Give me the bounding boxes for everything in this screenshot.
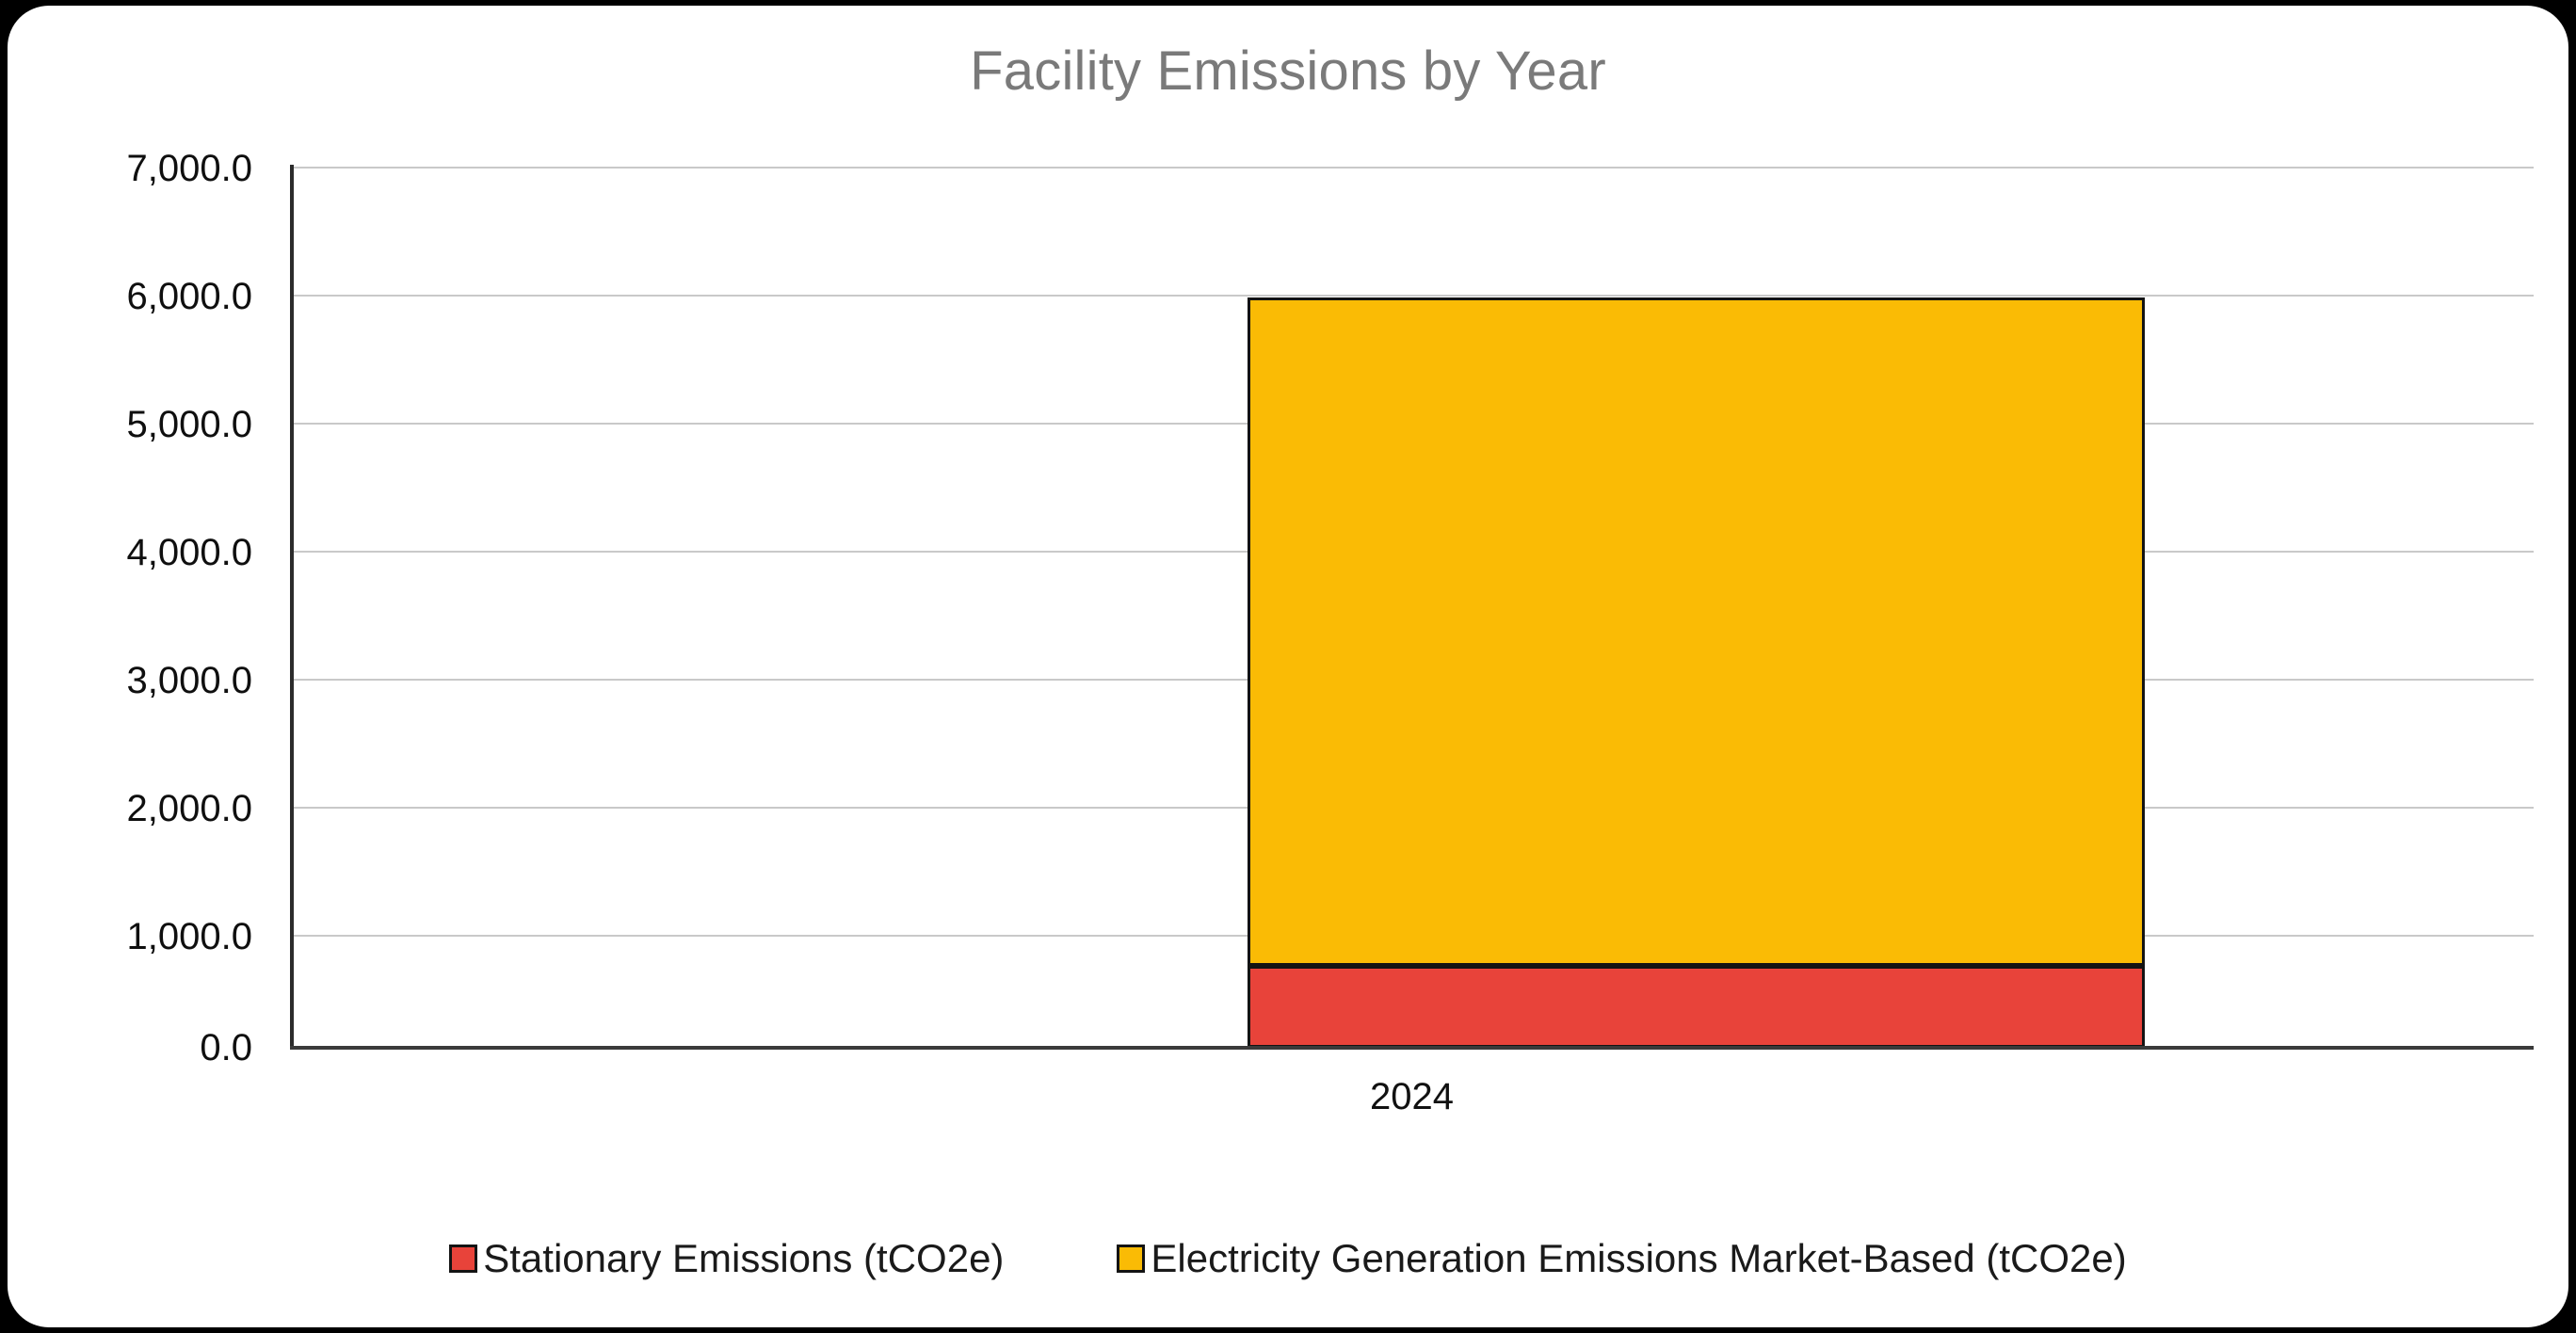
screenshot-root: Facility Emissions by Year 7,000.0 6,000… [0, 0, 2576, 1333]
legend-item-stationary-emissions[interactable]: Stationary Emissions (tCO2e) [449, 1239, 1004, 1278]
y-tick-label-5000: 5,000.0 [8, 404, 252, 446]
chart-card: Facility Emissions by Year 7,000.0 6,000… [8, 6, 2568, 1327]
x-axis-line [290, 1046, 2534, 1050]
bar-segment-electricity-generation-emissions-market-based[interactable] [1248, 297, 2145, 967]
legend-swatch-icon-electricity [1117, 1245, 1145, 1273]
legend-label-electricity: Electricity Generation Emissions Market-… [1151, 1239, 2126, 1278]
y-tick-label-2000: 2,000.0 [8, 788, 252, 830]
legend-label-stationary: Stationary Emissions (tCO2e) [483, 1239, 1004, 1278]
y-axis-line [290, 165, 294, 1050]
bar-column-2024[interactable] [1248, 167, 2145, 1048]
y-tick-label-0: 0.0 [8, 1027, 252, 1069]
y-tick-label-6000: 6,000.0 [8, 276, 252, 318]
y-tick-label-4000: 4,000.0 [8, 532, 252, 574]
plot-area [292, 167, 2534, 1048]
bar-segment-stationary-emissions[interactable] [1248, 966, 2145, 1048]
chart-title: Facility Emissions by Year [8, 40, 2568, 103]
legend-item-electricity-generation-market-based[interactable]: Electricity Generation Emissions Market-… [1117, 1239, 2126, 1278]
legend-swatch-icon-stationary [449, 1245, 477, 1273]
chart-legend: Stationary Emissions (tCO2e) Electricity… [8, 1239, 2568, 1278]
x-tick-label-2024: 2024 [963, 1076, 1860, 1118]
y-tick-label-3000: 3,000.0 [8, 660, 252, 702]
y-tick-label-7000: 7,000.0 [8, 148, 252, 190]
y-tick-label-1000: 1,000.0 [8, 916, 252, 958]
